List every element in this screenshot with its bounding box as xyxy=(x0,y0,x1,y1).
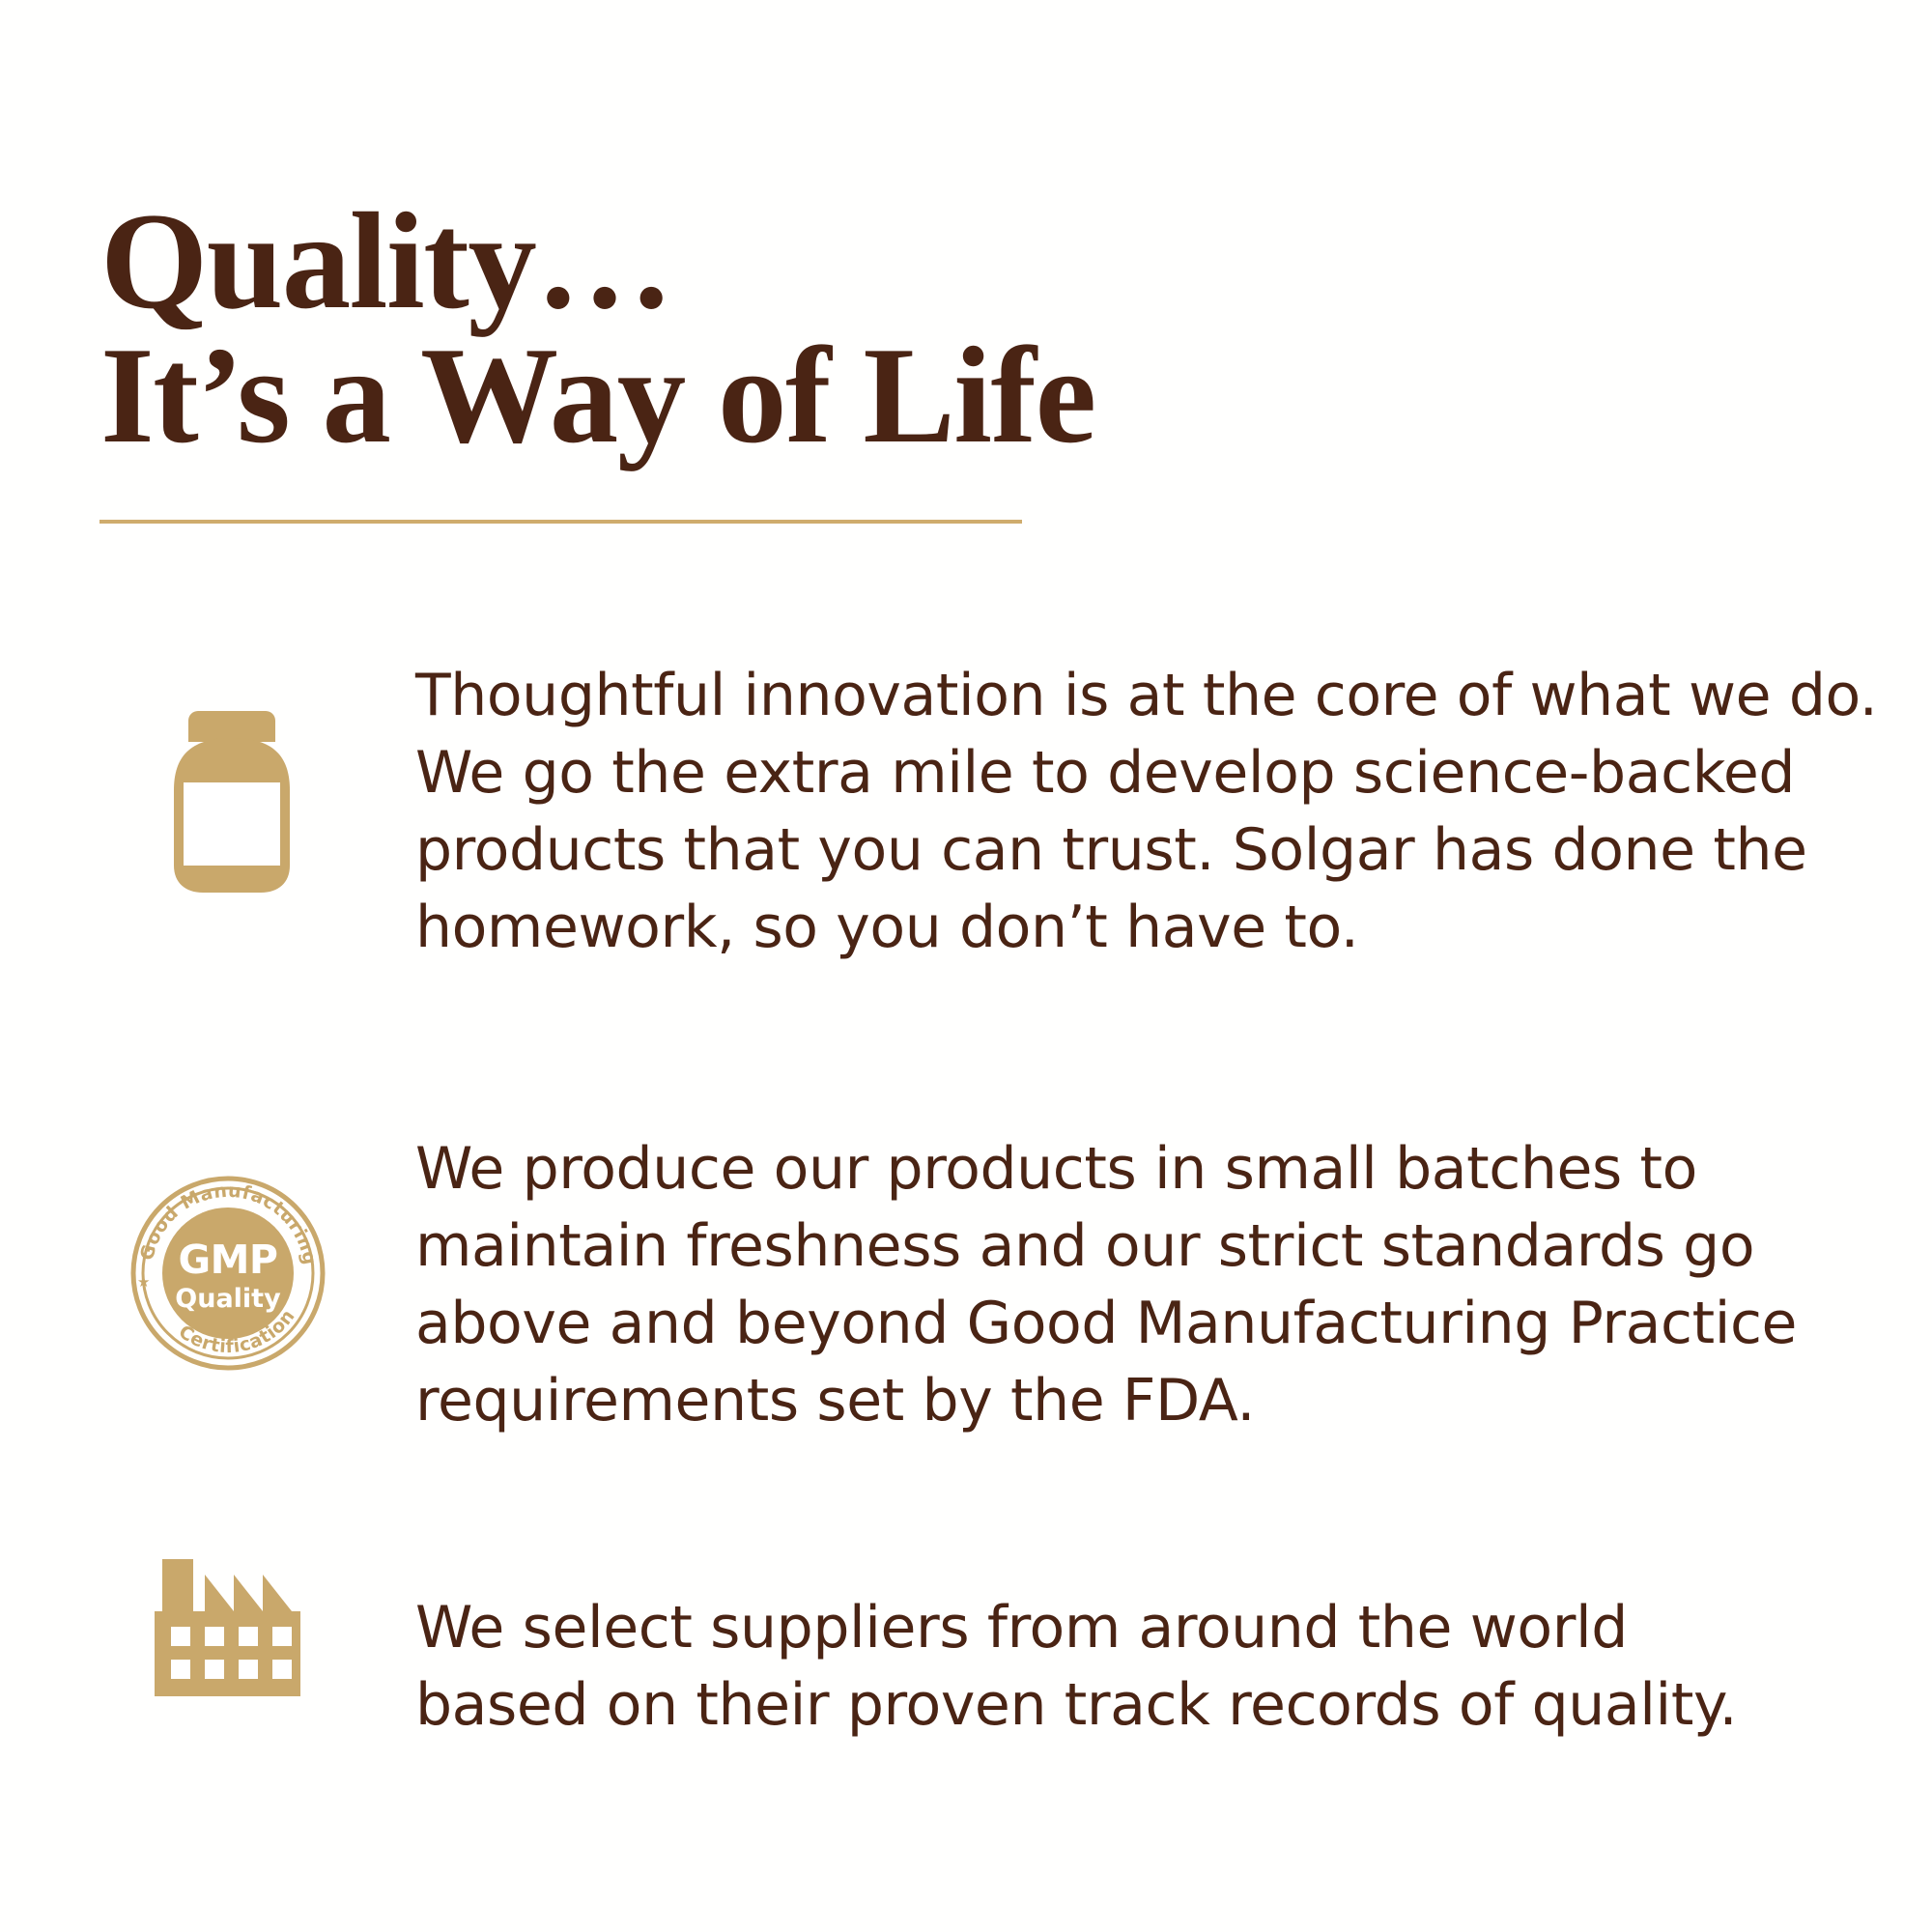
feature-text-line: We produce our products in small batches… xyxy=(415,1130,1797,1207)
feature-text-line: based on their proven track records of q… xyxy=(415,1666,1797,1744)
feature-text-gmp: We produce our products in small batches… xyxy=(415,1130,1797,1439)
feature-block-gmp: Good Manufacturing Practice Certificatio… xyxy=(0,1111,1932,1517)
feature-block-suppliers: We select suppliers from around the worl… xyxy=(0,1546,1932,1797)
factory-icon xyxy=(150,1551,308,1710)
feature-text-line: maintain freshness and our strict standa… xyxy=(415,1207,1797,1285)
feature-text-line: Thoughtful innovation is at the core of … xyxy=(415,657,1797,734)
feature-text-line: requirements set by the FDA. xyxy=(415,1362,1797,1439)
feature-text-line: products that you can trust. Solgar has … xyxy=(415,811,1797,889)
gmp-star-bullet: ★ xyxy=(137,1273,150,1291)
quality-page: Quality… It’s a Way of Life Thoughtful i… xyxy=(0,0,1932,1932)
feature-text-line: We select suppliers from around the worl… xyxy=(415,1589,1797,1666)
feature-text-innovation: Thoughtful innovation is at the core of … xyxy=(415,657,1797,966)
gmp-inner-label-secondary: Quality xyxy=(175,1284,281,1314)
page-title-line-2: It’s a Way of Life xyxy=(100,331,1453,460)
page-title-line-1: Quality… xyxy=(100,185,672,337)
feature-text-line: above and beyond Good Manufacturing Prac… xyxy=(415,1285,1797,1362)
feature-text-line: homework, so you don’t have to. xyxy=(415,889,1797,966)
supplement-bottle-icon xyxy=(166,707,298,896)
gold-divider xyxy=(99,520,1022,524)
gmp-inner-label-primary: GMP xyxy=(178,1236,277,1283)
feature-text-line: We go the extra mile to develop science-… xyxy=(415,734,1797,811)
gmp-quality-seal-icon: Good Manufacturing Practice Certificatio… xyxy=(124,1169,332,1378)
feature-text-suppliers: We select suppliers from around the worl… xyxy=(415,1589,1797,1744)
page-title: Quality… It’s a Way of Life xyxy=(100,197,1453,460)
feature-block-innovation: Thoughtful innovation is at the core of … xyxy=(0,638,1932,1024)
